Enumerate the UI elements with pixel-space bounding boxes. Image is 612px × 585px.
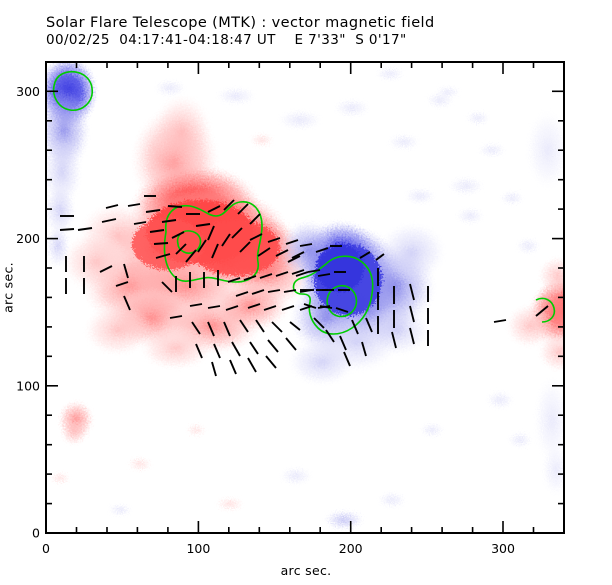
magnetogram-figure: Solar Flare Telescope (MTK) : vector mag…	[0, 0, 612, 585]
x-tick-labels: 0 100 200 300	[42, 541, 515, 556]
y-tick-label: 100	[16, 378, 40, 393]
x-tick-label: 0	[42, 541, 50, 556]
y-tick-label: 0	[32, 526, 40, 541]
figure-title-block: Solar Flare Telescope (MTK) : vector mag…	[46, 14, 586, 49]
y-tick-label: 200	[16, 231, 40, 246]
y-tick-label: 300	[16, 84, 40, 99]
plot-canvas: 0 100 200 300 0 100 200 300	[0, 0, 612, 585]
y-tick-labels: 0 100 200 300	[16, 84, 40, 541]
observation-metadata: 00/02/25 04:17:41-04:18:47 UT E 7'33" S …	[46, 32, 586, 49]
x-tick-label: 100	[186, 541, 210, 556]
x-axis-title: arc sec.	[0, 563, 612, 578]
x-tick-label: 300	[491, 541, 515, 556]
y-axis-title: arc sec.	[1, 258, 16, 318]
x-tick-label: 200	[339, 541, 363, 556]
page-title: Solar Flare Telescope (MTK) : vector mag…	[46, 14, 586, 32]
